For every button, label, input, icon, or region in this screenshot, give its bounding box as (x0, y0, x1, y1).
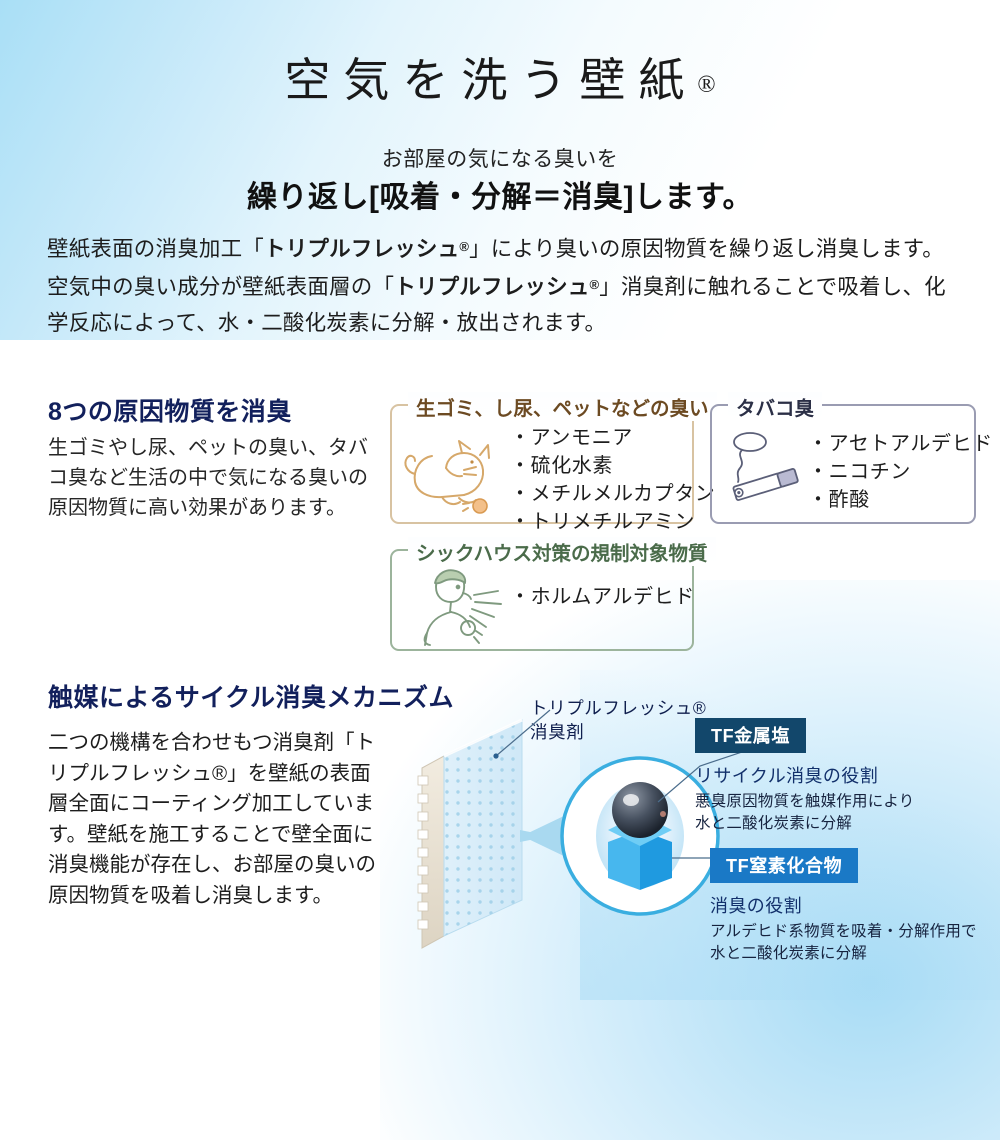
odour-box-kitchen: 生ゴミ、し尿、ペットなどの臭い ・アンモニア ・硫化水素 ・メチルメルカプタン … (390, 404, 694, 524)
callout-body-line-1: アルデヒド系物質を吸着・分解作用で (710, 921, 977, 943)
callout-tf-metal-salt-heading: リサイクル消臭の役割 (695, 762, 915, 788)
brand-name-1: トリプルフレッシュ (264, 237, 459, 261)
list-item: ・硫化水素 (510, 452, 715, 480)
cigarette-icon (720, 428, 808, 508)
list-item: ・アセトアルデヒド (808, 430, 993, 458)
odour-box-tobacco-items: ・アセトアルデヒド ・ニコチン ・酢酸 (808, 430, 993, 514)
registered-mark-icon: ® (697, 72, 715, 98)
odour-box-sickhouse-legend: シックハウス対策の規制対象物質 (408, 537, 716, 566)
odour-box-tobacco-legend: タバコ臭 (728, 392, 822, 421)
odour-box-tobacco: タバコ臭 ・アセトアルデヒド ・ニコチン ・酢酸 (710, 404, 976, 524)
list-item: ・ニコチン (808, 458, 993, 486)
odour-box-sickhouse-items: ・ホルムアルデヒド (510, 583, 695, 611)
odour-box-kitchen-items: ・アンモニア ・硫化水素 ・メチルメルカプタン ・トリメチルアミン (510, 424, 715, 536)
metal-salt-sphere (612, 782, 668, 838)
subtitle-large: 繰り返し[吸着・分解＝消臭]します。 (0, 172, 1000, 216)
registered-mark-icon: ® (459, 239, 469, 254)
callout-tf-nitrogen-compound-heading: 消臭の役割 (710, 892, 977, 918)
callout-tf-nitrogen-compound: TF窒素化合物 消臭の役割 アルデヒド系物質を吸着・分解作用で 水と二酸化炭素に… (710, 848, 977, 965)
callout-tf-nitrogen-compound-badge: TF窒素化合物 (710, 848, 858, 883)
page-title: 空気を洗う壁紙® (0, 44, 1000, 110)
odour-box-sickhouse: シックハウス対策の規制対象物質 ・ホルムアルデヒド (390, 549, 694, 651)
callout-body-line-1: 悪臭原因物質を触媒作用により (695, 791, 915, 813)
coughing-person-icon (406, 565, 511, 647)
odour-box-kitchen-legend: 生ゴミ、し尿、ペットなどの臭い (408, 392, 717, 421)
callout-tf-metal-salt: TF金属塩 リサイクル消臭の役割 悪臭原因物質を触媒作用により 水と二酸化炭素に… (695, 718, 915, 835)
callout-tf-nitrogen-compound-body: アルデヒド系物質を吸着・分解作用で 水と二酸化炭素に分解 (710, 921, 977, 965)
odour-mechanism-diagram: トリプルフレッシュ® 消臭剤 (400, 690, 1000, 980)
callout-tf-metal-salt-body: 悪臭原因物質を触媒作用により 水と二酸化炭素に分解 (695, 791, 915, 835)
subtitle-small: お部屋の気になる臭いを (0, 143, 1000, 173)
section-2-title: 触媒によるサイクル消臭メカニズム (48, 678, 454, 714)
callout-body-line-2: 水と二酸化炭素に分解 (695, 813, 915, 835)
callout-body-line-2: 水と二酸化炭素に分解 (710, 943, 977, 965)
wallpaper-edge (418, 756, 444, 948)
brand-name-2: トリプルフレッシュ (394, 275, 589, 299)
list-item: ・トリメチルアミン (510, 508, 715, 536)
cat-icon (402, 426, 507, 514)
list-item: ・メチルメルカプタン (510, 480, 715, 508)
list-item: ・アンモニア (510, 424, 715, 452)
lead-paragraph: 壁紙表面の消臭加工「トリプルフレッシュ®」により臭いの原因物質を繰り返し消臭しま… (47, 229, 953, 341)
lead-text-a: 壁紙表面の消臭加工「 (47, 237, 264, 261)
section-1-title: 8つの原因物質を消臭 (48, 392, 292, 428)
page-title-text: 空気を洗う壁紙 (284, 55, 697, 106)
list-item: ・酢酸 (808, 486, 993, 514)
list-item: ・ホルムアルデヒド (510, 583, 695, 611)
section-2-body: 二つの機構を合わせもつ消臭剤「トリプルフレッシュ®」を壁紙の表面層全面にコーティ… (48, 728, 378, 911)
registered-mark-icon: ® (590, 277, 600, 292)
section-1-body: 生ゴミやし尿、ペットの臭い、タバコ臭など生活の中で気になる臭いの原因物質に高い効… (48, 433, 368, 523)
callout-tf-metal-salt-badge: TF金属塩 (695, 718, 806, 753)
